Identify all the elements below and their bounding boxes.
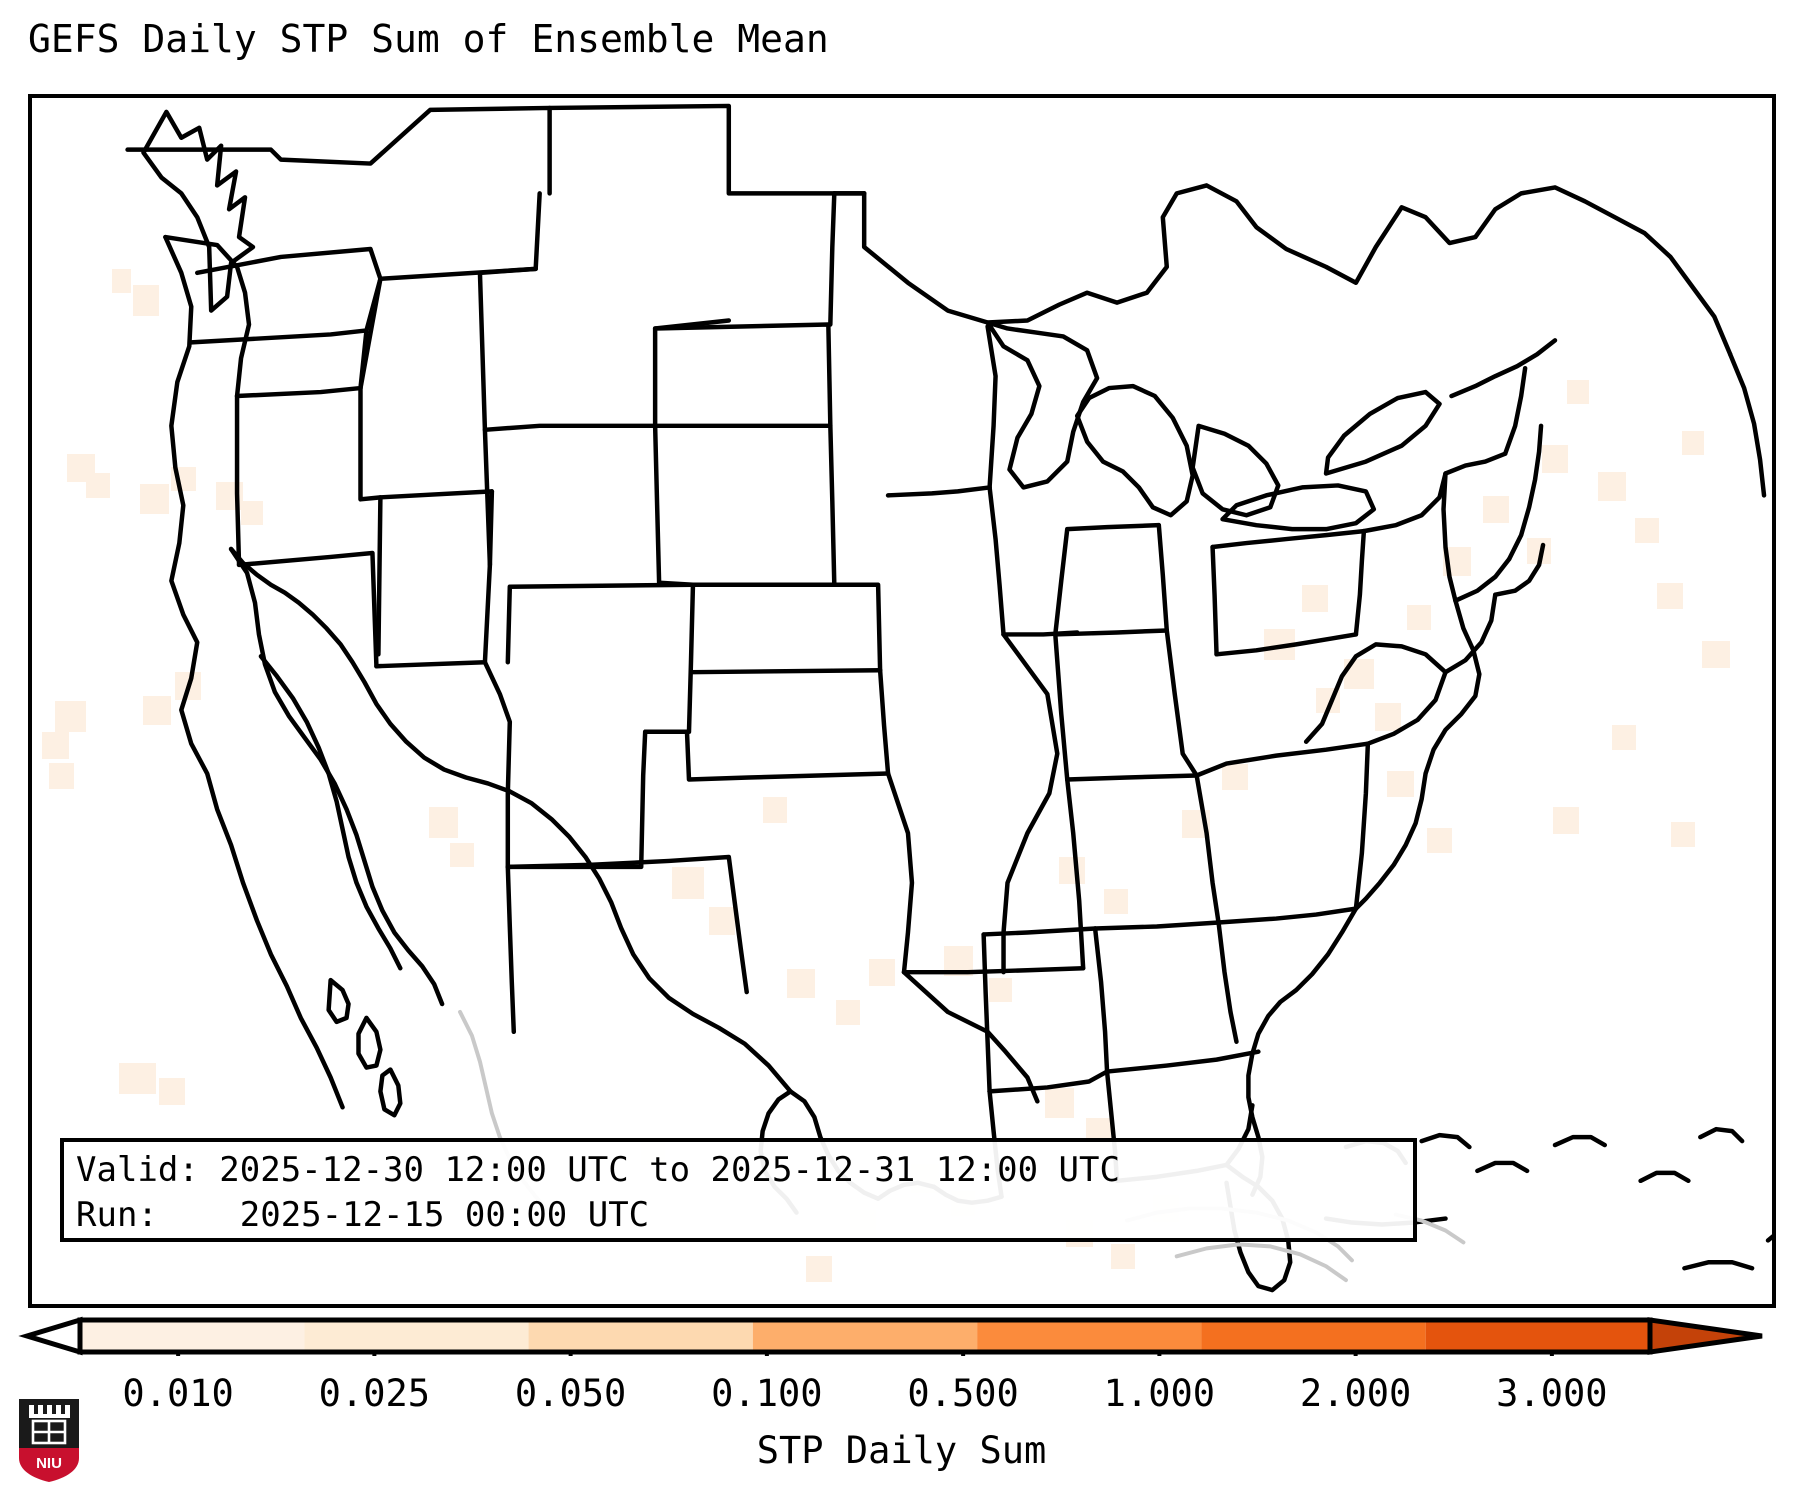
colorbar-tick-label: 0.050 xyxy=(515,1372,626,1416)
valid-time-line: Valid: 2025-12-30 12:00 UTC to 2025-12-3… xyxy=(76,1148,1413,1193)
colorbar-band xyxy=(753,1320,977,1352)
colorbar-tick-label: 1.000 xyxy=(1104,1372,1215,1416)
colorbar-band xyxy=(1201,1320,1425,1352)
run-time-line: Run: 2025-12-15 00:00 UTC xyxy=(76,1193,1413,1238)
niu-logo: NIU xyxy=(16,1396,82,1484)
colorbar-tick-label: 0.010 xyxy=(122,1372,233,1416)
colorbar-band xyxy=(1426,1320,1650,1352)
colorbar-tick-labels: 0.0100.0250.0500.1000.5001.0002.0003.000 xyxy=(0,1372,1803,1422)
colorbar-tick-label: 0.100 xyxy=(711,1372,822,1416)
colorbar-tick-label: 0.025 xyxy=(319,1372,430,1416)
colorbar-band xyxy=(529,1320,753,1352)
basemap-outlines xyxy=(32,98,1772,1304)
page-title: GEFS Daily STP Sum of Ensemble Mean xyxy=(28,16,829,62)
colorbar-band xyxy=(977,1320,1201,1352)
colorbar-swatches xyxy=(0,1316,1803,1356)
map-frame xyxy=(28,94,1776,1308)
colorbar-band xyxy=(304,1320,528,1352)
colorbar-tick-label: 0.500 xyxy=(907,1372,1018,1416)
colorbar-tick-label: 3.000 xyxy=(1496,1372,1607,1416)
colorbar-over-arrow xyxy=(1650,1320,1762,1352)
niu-logo-text: NIU xyxy=(36,1455,62,1472)
colorbar-tick-label: 2.000 xyxy=(1300,1372,1411,1416)
valid-run-info-box: Valid: 2025-12-30 12:00 UTC to 2025-12-3… xyxy=(60,1138,1417,1242)
colorbar-band xyxy=(80,1320,304,1352)
colorbar-axis-label: STP Daily Sum xyxy=(0,1428,1803,1474)
colorbar xyxy=(0,1316,1803,1356)
colorbar-under-arrow xyxy=(27,1320,80,1352)
